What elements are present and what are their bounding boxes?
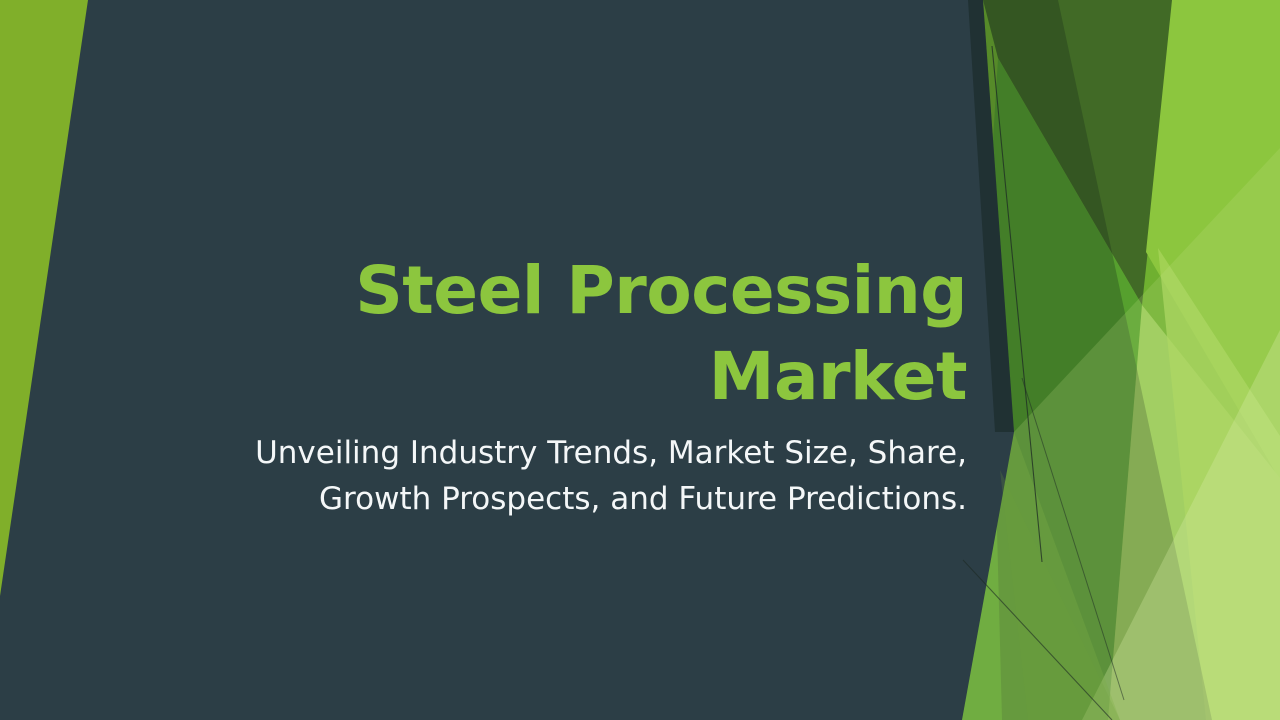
slide-text-content: Steel Processing Market Unveiling Indust… xyxy=(0,0,1280,720)
title-placeholder: Steel Processing Market xyxy=(187,248,967,420)
presentation-slide: Steel Processing Market Unveiling Indust… xyxy=(0,0,1280,720)
page-title: Steel Processing Market xyxy=(187,248,967,420)
page-subtitle: Unveiling Industry Trends, Market Size, … xyxy=(187,430,967,522)
subtitle-placeholder: Unveiling Industry Trends, Market Size, … xyxy=(187,430,967,522)
